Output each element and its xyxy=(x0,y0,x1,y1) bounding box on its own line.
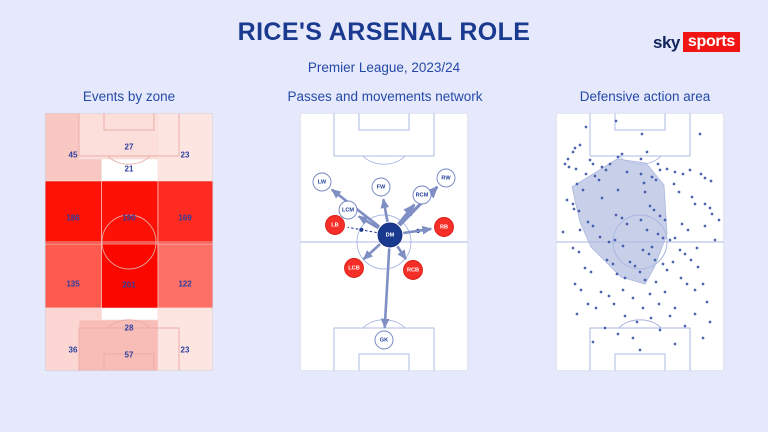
action-point xyxy=(684,325,687,328)
action-point xyxy=(700,173,703,176)
action-point xyxy=(674,343,677,346)
action-point xyxy=(659,169,662,172)
action-point xyxy=(622,245,625,248)
action-point xyxy=(578,251,581,254)
action-point xyxy=(684,253,687,256)
action-point xyxy=(650,317,653,320)
action-point xyxy=(573,208,576,211)
action-point xyxy=(702,337,705,340)
zone-value-label: 27 xyxy=(125,143,134,152)
action-point xyxy=(582,189,585,192)
action-point xyxy=(709,207,712,210)
node-label: LCM xyxy=(342,207,354,213)
action-point xyxy=(682,173,685,176)
action-point xyxy=(718,219,721,222)
action-point xyxy=(649,205,652,208)
action-point xyxy=(636,321,639,324)
zone-value-label: 28 xyxy=(125,324,134,333)
action-point xyxy=(621,217,624,220)
zone-value-label: 21 xyxy=(125,165,134,174)
action-point xyxy=(585,126,588,129)
action-point xyxy=(604,327,607,330)
action-point xyxy=(674,237,677,240)
action-point xyxy=(587,221,590,224)
action-point xyxy=(612,263,615,266)
panel-caption-events: Events by zone xyxy=(9,89,249,104)
action-point xyxy=(592,163,595,166)
action-point xyxy=(649,293,652,296)
action-point xyxy=(575,168,578,171)
action-point xyxy=(605,169,608,172)
action-point xyxy=(657,163,660,166)
action-point xyxy=(704,203,707,206)
action-point xyxy=(598,179,601,182)
action-point xyxy=(662,237,665,240)
action-point xyxy=(616,273,619,276)
action-point xyxy=(662,263,665,266)
action-point xyxy=(702,283,705,286)
action-point xyxy=(666,168,669,171)
panel-caption-defense: Defensive action area xyxy=(525,89,765,104)
action-point xyxy=(617,333,620,336)
zone-value-label: 186 xyxy=(66,214,80,223)
network-node[interactable]: DM xyxy=(378,223,402,247)
action-point xyxy=(646,151,649,154)
events-pitch-svg: 4527232118619016913520112236285723 xyxy=(44,112,214,372)
network-node[interactable]: RB xyxy=(435,218,454,237)
node-label: GK xyxy=(380,337,388,343)
action-point xyxy=(706,301,709,304)
action-point xyxy=(587,303,590,306)
action-point xyxy=(704,177,707,180)
action-point xyxy=(681,223,684,226)
zone-value-label: 190 xyxy=(122,214,136,223)
action-point xyxy=(694,289,697,292)
action-point xyxy=(680,277,683,280)
action-point xyxy=(653,209,656,212)
network-node[interactable]: LW xyxy=(313,173,331,191)
page-subtitle: Premier League, 2023/24 xyxy=(0,60,768,75)
action-point xyxy=(606,259,609,262)
action-point xyxy=(615,214,618,217)
action-point xyxy=(600,291,603,294)
action-point xyxy=(578,210,581,213)
action-point xyxy=(642,307,645,310)
action-point xyxy=(572,203,575,206)
action-point xyxy=(691,196,694,199)
action-point xyxy=(595,307,598,310)
action-point xyxy=(658,303,661,306)
zone-value-label: 23 xyxy=(181,151,190,160)
action-point xyxy=(669,239,672,242)
action-point xyxy=(609,163,612,166)
zone-value-label: 169 xyxy=(178,214,192,223)
zone-cell xyxy=(102,244,159,308)
action-point xyxy=(648,253,651,256)
action-point xyxy=(592,341,595,344)
action-point xyxy=(562,231,565,234)
zone-cell xyxy=(158,308,213,371)
sports-wordmark: sports xyxy=(683,32,740,53)
action-point xyxy=(709,321,712,324)
node-label: RCB xyxy=(407,267,419,273)
action-point xyxy=(646,229,649,232)
action-point xyxy=(590,271,593,274)
action-point xyxy=(669,315,672,318)
node-label: RCM xyxy=(416,192,429,198)
action-point xyxy=(657,233,660,236)
action-point xyxy=(622,289,625,292)
sky-sports-logo: sky sports xyxy=(653,31,740,53)
network-pitch-svg: LWFWRCMRWLCMLBRBDMLCBRCBGK xyxy=(299,112,469,372)
node-label: LB xyxy=(331,222,338,228)
action-point xyxy=(608,241,611,244)
action-point xyxy=(711,213,714,216)
node-label: LW xyxy=(318,179,327,185)
infographic-root: RICE'S ARSENAL ROLE Premier League, 2023… xyxy=(0,0,768,432)
action-point xyxy=(601,166,604,169)
action-point xyxy=(651,246,654,249)
action-point xyxy=(714,239,717,242)
action-point xyxy=(574,283,577,286)
action-point xyxy=(694,203,697,206)
network-node[interactable]: LCB xyxy=(345,259,364,278)
action-point xyxy=(654,259,657,262)
action-point xyxy=(673,183,676,186)
action-point xyxy=(642,249,645,252)
link-node-dot xyxy=(359,228,363,232)
action-point xyxy=(644,191,647,194)
action-point xyxy=(589,159,592,162)
action-point xyxy=(579,144,582,147)
action-point xyxy=(566,199,569,202)
node-label: LCB xyxy=(348,265,360,271)
zone-value-label: 57 xyxy=(125,351,134,360)
action-point xyxy=(572,247,575,250)
action-point xyxy=(672,261,675,264)
network-node[interactable]: FW xyxy=(372,178,390,196)
node-label: FW xyxy=(377,184,386,190)
defensive-action-chart xyxy=(555,112,725,372)
action-point xyxy=(621,153,624,156)
zone-cell xyxy=(45,181,102,244)
action-point xyxy=(696,247,699,250)
action-point xyxy=(564,163,567,166)
action-point xyxy=(617,189,620,192)
network-node[interactable]: RW xyxy=(437,169,455,187)
panel-caption-network: Passes and movements network xyxy=(265,89,505,104)
action-point xyxy=(614,239,617,242)
zone-value-label: 122 xyxy=(178,280,192,289)
action-point xyxy=(567,158,570,161)
action-point xyxy=(580,289,583,292)
action-point xyxy=(641,133,644,136)
action-point xyxy=(643,182,646,185)
action-point xyxy=(664,291,667,294)
zone-value-label: 135 xyxy=(66,280,80,289)
zone-cell xyxy=(45,244,102,308)
action-point xyxy=(659,329,662,332)
action-point xyxy=(678,191,681,194)
action-point xyxy=(574,147,577,150)
network-node[interactable]: GK xyxy=(375,331,393,349)
zone-cell xyxy=(158,244,213,308)
action-point xyxy=(640,158,643,161)
action-point xyxy=(626,171,629,174)
action-point xyxy=(666,269,669,272)
action-point xyxy=(639,349,642,352)
action-point xyxy=(608,295,611,298)
action-point xyxy=(664,219,667,222)
action-point xyxy=(615,120,618,123)
action-point xyxy=(632,297,635,300)
action-point xyxy=(639,271,642,274)
action-point xyxy=(710,180,713,183)
action-point xyxy=(572,151,575,154)
action-point xyxy=(584,267,587,270)
action-point xyxy=(640,173,643,176)
sky-wordmark: sky xyxy=(653,34,680,51)
node-label: RB xyxy=(440,224,448,230)
defense-pitch-svg xyxy=(555,112,725,372)
action-point xyxy=(690,259,693,262)
action-point xyxy=(601,197,604,200)
action-point xyxy=(599,236,602,239)
action-point xyxy=(686,283,689,286)
network-node[interactable]: LB xyxy=(326,216,345,235)
action-point xyxy=(634,265,637,268)
node-label: DM xyxy=(386,232,395,238)
action-point xyxy=(704,225,707,228)
network-node[interactable]: RCM xyxy=(413,186,431,204)
action-point xyxy=(697,266,700,269)
action-point xyxy=(674,307,677,310)
action-point xyxy=(576,313,579,316)
action-point xyxy=(617,156,620,159)
events-by-zone-chart: 4527232118619016913520112236285723 xyxy=(44,112,214,372)
node-label: RW xyxy=(441,175,451,181)
network-node[interactable]: RCB xyxy=(404,261,423,280)
zone-value-label: 36 xyxy=(69,346,78,355)
zone-value-label: 23 xyxy=(181,346,190,355)
action-point xyxy=(674,171,677,174)
action-point xyxy=(613,303,616,306)
action-point xyxy=(651,176,654,179)
action-point xyxy=(624,315,627,318)
action-point xyxy=(626,223,629,226)
action-point xyxy=(687,229,690,232)
action-point xyxy=(576,183,579,186)
action-point xyxy=(694,313,697,316)
zone-value-label: 201 xyxy=(122,281,136,290)
action-point xyxy=(640,219,643,222)
action-point xyxy=(655,281,658,284)
action-point xyxy=(585,173,588,176)
action-point xyxy=(679,249,682,252)
action-point xyxy=(594,175,597,178)
zone-cell xyxy=(158,181,213,244)
action-point xyxy=(699,133,702,136)
action-point xyxy=(579,229,582,232)
action-point xyxy=(659,215,662,218)
action-point xyxy=(655,179,658,182)
action-point xyxy=(568,166,571,169)
action-point xyxy=(592,225,595,228)
action-point xyxy=(689,169,692,172)
action-point xyxy=(644,279,647,282)
action-point xyxy=(632,337,635,340)
action-point xyxy=(629,261,632,264)
zone-cell xyxy=(102,181,159,244)
zone-cell xyxy=(158,113,213,181)
passes-network-chart: LWFWRCMRWLCMLBRBDMLCBRCBGK xyxy=(299,112,469,372)
network-node[interactable]: LCM xyxy=(339,201,357,219)
zone-value-label: 45 xyxy=(69,151,78,160)
action-point xyxy=(624,277,627,280)
